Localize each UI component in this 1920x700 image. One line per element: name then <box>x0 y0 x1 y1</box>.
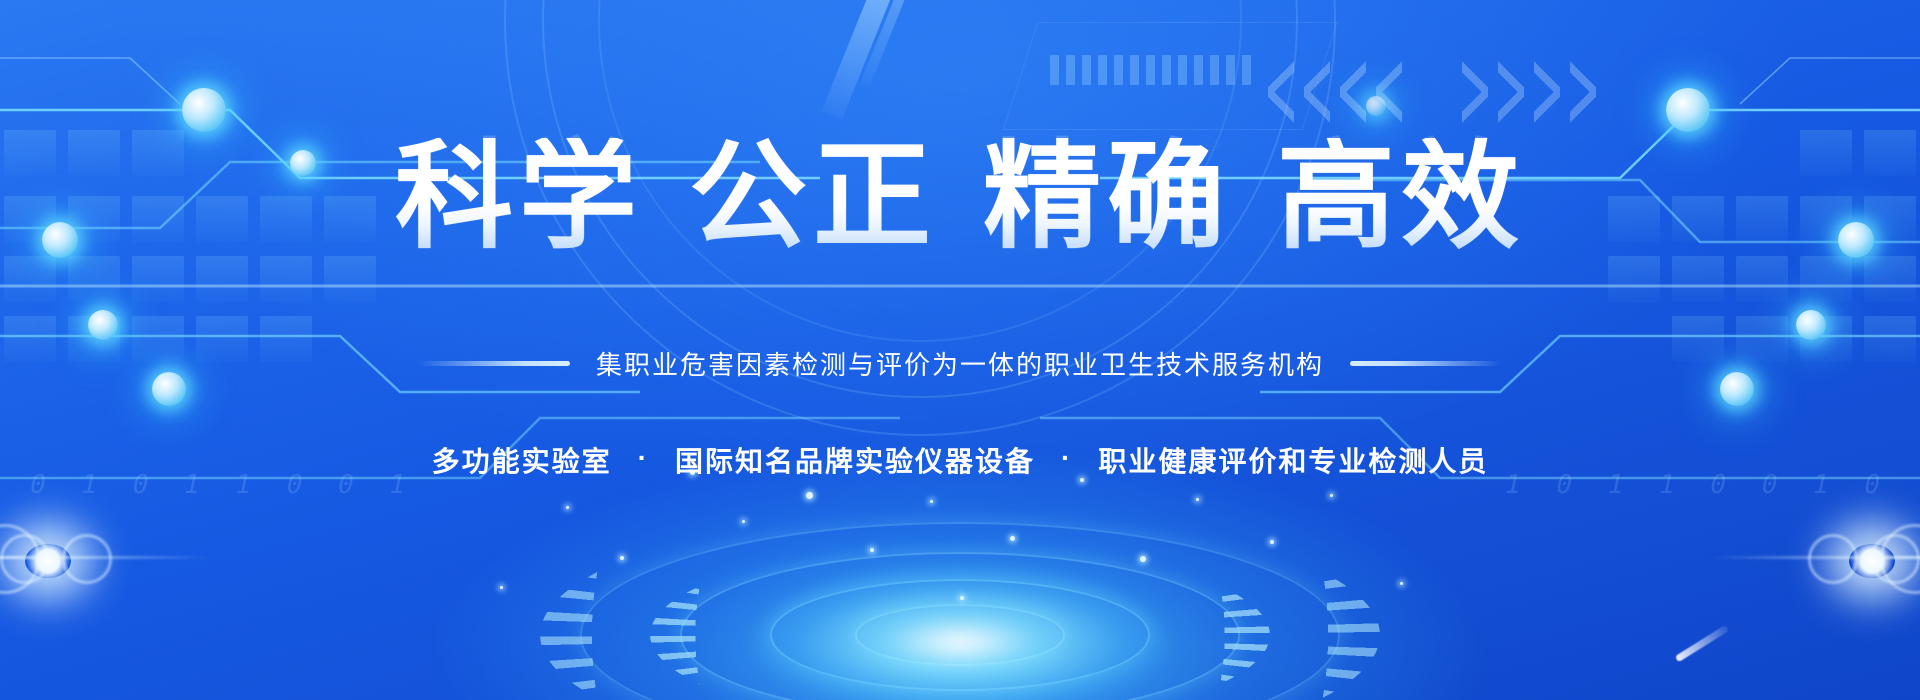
headline-word-2: 公正 <box>689 131 937 263</box>
tagline-item-1: 多功能实验室 <box>432 446 612 477</box>
tagline-separator: · <box>1061 442 1072 474</box>
headline-word-3: 精确 <box>983 131 1231 263</box>
banner-subtitle: 集职业危害因素检测与评价为一体的职业卫生技术服务机构 <box>596 345 1324 382</box>
tagline-separator: · <box>638 442 649 474</box>
subtitle-rule-left <box>418 361 570 366</box>
banner-content: 科学公正精确高效 集职业危害因素检测与评价为一体的职业卫生技术服务机构 多功能实… <box>0 0 1920 700</box>
tagline-item-3: 职业健康评价和专业检测人员 <box>1098 446 1488 477</box>
hero-banner: 0 1 0 1 1 0 0 1 1 0 1 1 0 0 1 0 <box>0 0 1920 700</box>
headline-word-4: 高效 <box>1277 131 1525 263</box>
banner-tagline: 多功能实验室·国际知名品牌实验仪器设备·职业健康评价和专业检测人员 <box>0 440 1920 480</box>
subtitle-rule-right <box>1350 361 1502 366</box>
banner-headline: 科学公正精确高效 <box>0 138 1920 256</box>
headline-word-1: 科学 <box>395 131 643 263</box>
tagline-item-2: 国际知名品牌实验仪器设备 <box>675 446 1035 477</box>
banner-subtitle-row: 集职业危害因素检测与评价为一体的职业卫生技术服务机构 <box>0 345 1920 382</box>
